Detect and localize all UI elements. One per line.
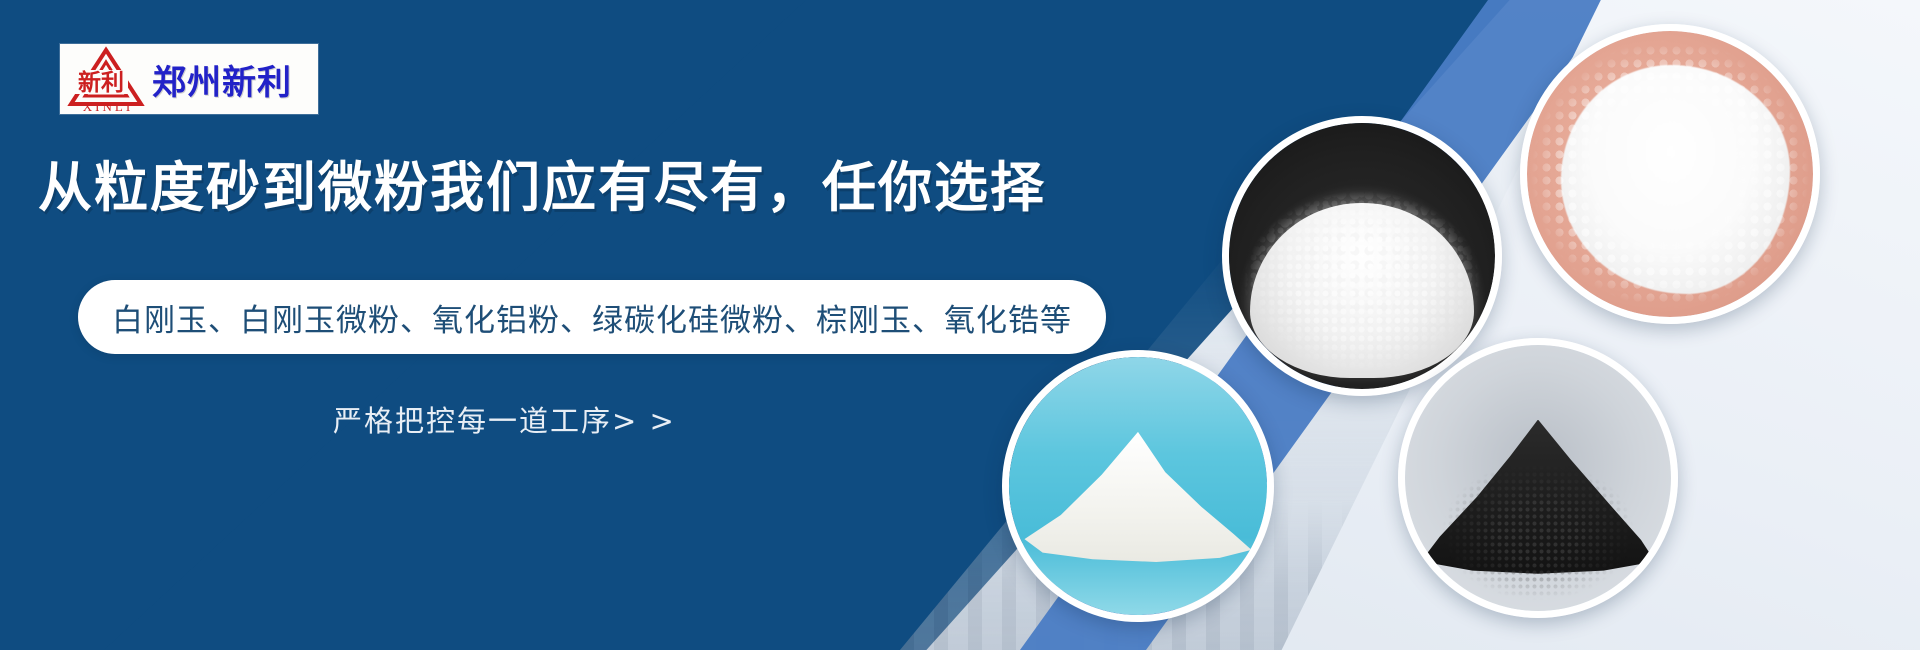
product-photo-black-silicon-carbide-grains	[1398, 338, 1678, 618]
product-list-text: 白刚玉、白刚玉微粉、氧化铝粉、绿碳化硅微粉、棕刚玉、氧化锆等	[112, 295, 1072, 340]
process-cta[interactable]: 严格把控每一道工序> >	[333, 398, 676, 440]
powder-speckle-texture	[1527, 31, 1813, 317]
product-photo-white-alumina-powder	[1520, 24, 1820, 324]
triangle-logo-icon: 新利 XINLI	[66, 46, 146, 112]
product-list-pill[interactable]: 白刚玉、白刚玉微粉、氧化铝粉、绿碳化硅微粉、棕刚玉、氧化锆等	[78, 280, 1106, 354]
chevron-right-icon: > >	[612, 404, 676, 438]
headline: 从粒度砂到微粉我们应有尽有，任你选择	[38, 160, 1046, 217]
powder-cone-shape	[1024, 432, 1251, 566]
promo-banner: 新利 XINLI 郑州新利 从粒度砂到微粉我们应有尽有，任你选择 白刚玉、白刚玉…	[0, 0, 1920, 650]
photo-inner	[1405, 345, 1671, 611]
logo-company-name: 郑州新利	[152, 55, 292, 104]
black-grain-speckle-texture	[1405, 345, 1671, 611]
photo-inner	[1009, 357, 1267, 615]
logo-romanization: XINLI	[72, 100, 144, 113]
photo-inner	[1527, 31, 1813, 317]
logo-mark-text: 新利	[78, 69, 124, 96]
process-cta-label: 严格把控每一道工序	[333, 404, 612, 438]
company-logo[interactable]: 新利 XINLI 郑州新利	[60, 44, 318, 114]
product-photo-white-micropowder-cone	[1002, 350, 1274, 622]
